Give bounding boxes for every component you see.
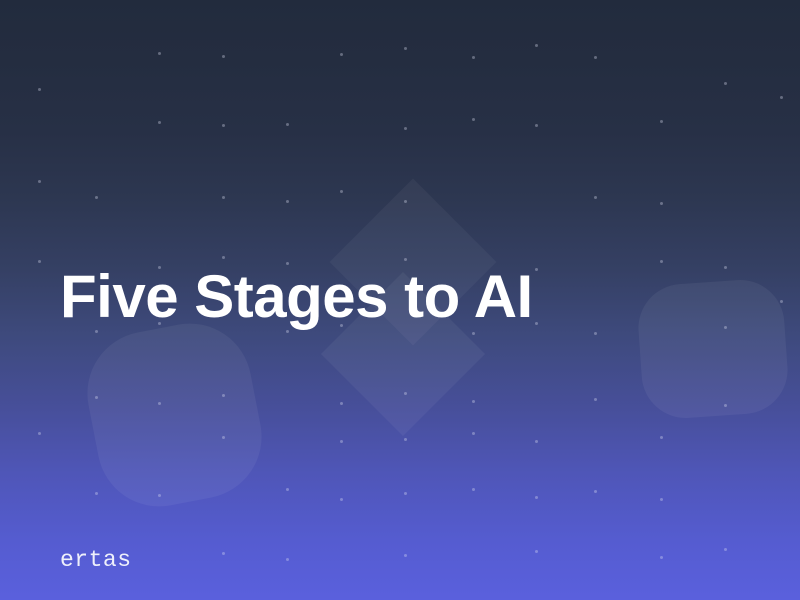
background-dot bbox=[594, 56, 597, 59]
background-dot bbox=[286, 123, 289, 126]
background-dot bbox=[660, 260, 663, 263]
background-dot bbox=[222, 436, 225, 439]
background-dot bbox=[38, 180, 41, 183]
brand-watermark: ertas bbox=[60, 547, 132, 573]
background-dot bbox=[158, 494, 161, 497]
background-dot bbox=[535, 322, 538, 325]
background-dot bbox=[594, 490, 597, 493]
background-dot bbox=[340, 402, 343, 405]
background-dot bbox=[404, 392, 407, 395]
background-dot bbox=[660, 202, 663, 205]
background-dot bbox=[222, 55, 225, 58]
background-dot bbox=[38, 88, 41, 91]
background-dot bbox=[660, 120, 663, 123]
background-dot bbox=[535, 496, 538, 499]
background-dot bbox=[535, 268, 538, 271]
background-dot bbox=[404, 492, 407, 495]
background-dot bbox=[158, 402, 161, 405]
background-dot bbox=[594, 332, 597, 335]
background-dot bbox=[222, 552, 225, 555]
background-dot bbox=[472, 332, 475, 335]
background-dot bbox=[535, 440, 538, 443]
background-dot bbox=[780, 96, 783, 99]
background-dot bbox=[340, 190, 343, 193]
background-dot bbox=[535, 44, 538, 47]
background-dot bbox=[404, 554, 407, 557]
background-dot bbox=[404, 200, 407, 203]
background-dot bbox=[594, 398, 597, 401]
background-dot bbox=[340, 53, 343, 56]
background-dot bbox=[158, 121, 161, 124]
background-dot bbox=[222, 196, 225, 199]
slide-title: Five Stages to AI bbox=[60, 262, 533, 332]
background-dot bbox=[780, 300, 783, 303]
background-dot bbox=[38, 432, 41, 435]
background-dot bbox=[95, 196, 98, 199]
background-dot bbox=[660, 498, 663, 501]
background-dot bbox=[472, 488, 475, 491]
background-dot bbox=[724, 548, 727, 551]
background-dot bbox=[404, 438, 407, 441]
rounded-square-right-shape bbox=[636, 277, 791, 421]
background-dot bbox=[724, 404, 727, 407]
background-dot bbox=[724, 266, 727, 269]
background-dot bbox=[472, 400, 475, 403]
background-dot bbox=[724, 82, 727, 85]
slide-canvas: Five Stages to AI ertas bbox=[0, 0, 800, 600]
background-dot bbox=[95, 492, 98, 495]
background-dot bbox=[286, 558, 289, 561]
background-dot bbox=[594, 196, 597, 199]
background-dot bbox=[404, 258, 407, 261]
background-dot bbox=[660, 436, 663, 439]
background-dot bbox=[404, 47, 407, 50]
background-dot bbox=[222, 124, 225, 127]
background-dot bbox=[724, 326, 727, 329]
background-dot bbox=[340, 498, 343, 501]
background-dot bbox=[472, 118, 475, 121]
background-dot bbox=[286, 488, 289, 491]
background-dot bbox=[535, 124, 538, 127]
background-dot bbox=[472, 432, 475, 435]
background-dot bbox=[286, 200, 289, 203]
background-dot bbox=[38, 260, 41, 263]
background-dot bbox=[340, 440, 343, 443]
background-dot bbox=[158, 52, 161, 55]
background-dot bbox=[404, 127, 407, 130]
rounded-rectangle-left-shape bbox=[77, 313, 273, 517]
background-dot bbox=[660, 556, 663, 559]
background-dot bbox=[535, 550, 538, 553]
background-dot bbox=[472, 56, 475, 59]
background-dot bbox=[222, 394, 225, 397]
background-dot bbox=[95, 396, 98, 399]
background-dot bbox=[222, 256, 225, 259]
